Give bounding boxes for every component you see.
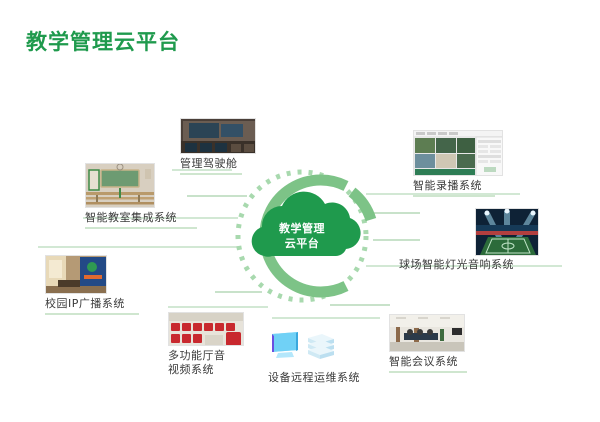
- classroom-photo: [85, 163, 155, 208]
- monitor-server-icon: [268, 330, 338, 366]
- video-grid-photo: [413, 130, 503, 176]
- node-smart-classroom[interactable]: 智能教室集成系统: [85, 163, 197, 229]
- node-label: 智能录播系统: [413, 179, 503, 193]
- node-label: 智能会议系统: [389, 355, 467, 369]
- hub-line-1: 教学管理: [279, 221, 325, 236]
- label-underline: [389, 371, 467, 373]
- diagram-canvas: 教学管理云平台 教学管理 云平台: [0, 0, 600, 422]
- stadium-photo: [475, 208, 539, 256]
- broadcast-room-photo: [45, 255, 107, 294]
- label-underline: [45, 313, 139, 315]
- node-smart-recording[interactable]: 智能录播系统: [413, 130, 503, 197]
- control-room-photo: [180, 118, 256, 154]
- label-underline: [85, 227, 197, 229]
- node-label: 智能教室集成系统: [85, 211, 197, 225]
- center-cloud: 教学管理 云平台: [238, 172, 366, 300]
- node-remote-ops[interactable]: 设备远程运维系统: [268, 330, 360, 385]
- label-underline: [413, 195, 495, 197]
- auditorium-seats-photo: [168, 312, 244, 346]
- node-multifunction-hall-av[interactable]: 多功能厅音视频系统: [168, 312, 244, 377]
- node-label: 校园IP广播系统: [45, 297, 139, 311]
- node-smart-conference[interactable]: 智能会议系统: [389, 314, 467, 373]
- hub-line-2: 云平台: [285, 236, 320, 251]
- node-label: 设备远程运维系统: [268, 371, 360, 385]
- node-label: 多功能厅音视频系统: [168, 349, 228, 377]
- node-label: 球场智能灯光音响系统: [399, 258, 514, 272]
- node-stadium-light-audio[interactable]: 球场智能灯光音响系统: [475, 208, 539, 256]
- node-campus-ip-broadcast[interactable]: 校园IP广播系统: [45, 255, 139, 315]
- conference-room-photo: [389, 314, 465, 352]
